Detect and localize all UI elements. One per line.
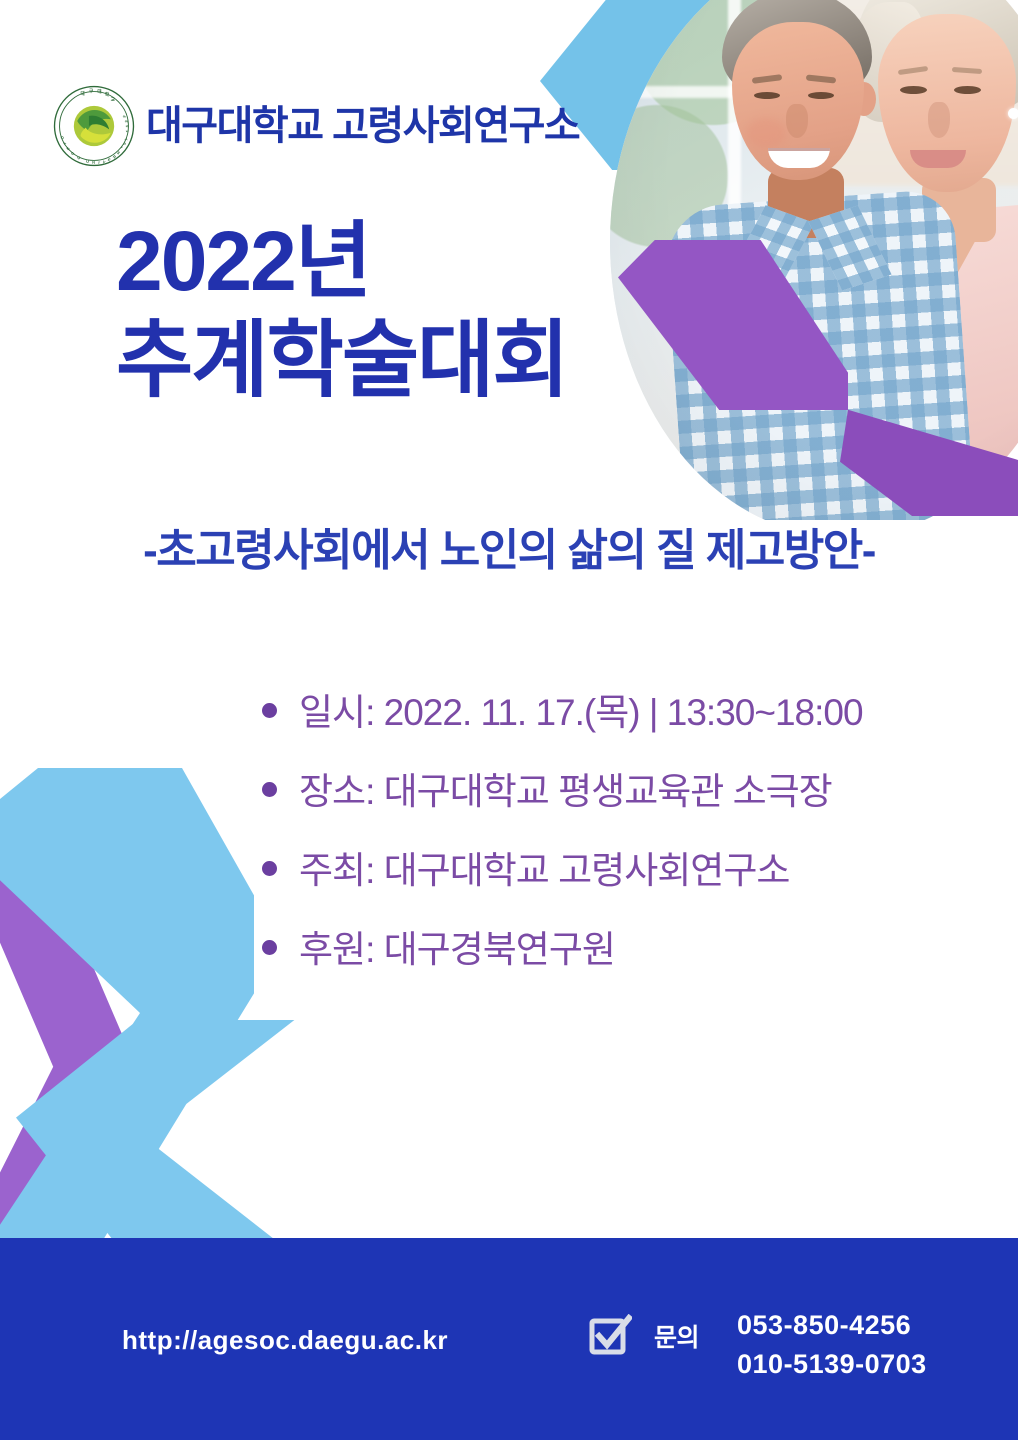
left-blue-chevron-large bbox=[0, 768, 254, 1258]
hero-graphic bbox=[540, 0, 1018, 520]
page-title: 2022년 추계학술대회 bbox=[116, 212, 568, 410]
svg-text:대: 대 bbox=[81, 90, 85, 97]
phone-number-mobile[interactable]: 010-5139-0703 bbox=[737, 1349, 927, 1380]
list-item: 주최: 대구대학교 고령사회연구소 bbox=[262, 852, 863, 889]
list-item: 일시: 2022. 11. 17.(목) | 13:30~18:00 bbox=[262, 694, 863, 731]
detail-date: 일시: 2022. 11. 17.(목) | 13:30~18:00 bbox=[299, 694, 863, 731]
contact-label: 문의 bbox=[654, 1318, 699, 1354]
list-item: 후원: 대구경북연구원 bbox=[262, 931, 863, 968]
subtitle: -초고령사회에서 노인의 삶의 질 제고방안- bbox=[0, 514, 1018, 578]
detail-sponsor: 후원: 대구경북연구원 bbox=[299, 931, 615, 968]
phone-number-list: 053-850-4256 010-5139-0703 bbox=[737, 1310, 927, 1380]
event-details-list: 일시: 2022. 11. 17.(목) | 13:30~18:00 장소: 대… bbox=[262, 694, 863, 1010]
detail-host: 주최: 대구대학교 고령사회연구소 bbox=[299, 852, 789, 889]
left-blue-chevron-lower bbox=[16, 1020, 306, 1264]
svg-text:9: 9 bbox=[125, 125, 129, 127]
institute-name: 대구대학교 고령사회연구소 bbox=[146, 106, 579, 146]
svg-text:N: N bbox=[92, 161, 95, 165]
bullet-dot-icon bbox=[262, 861, 277, 876]
phone-number-office[interactable]: 053-850-4256 bbox=[737, 1310, 927, 1341]
website-link[interactable]: http://agesoc.daegu.ac.kr bbox=[122, 1325, 448, 1356]
title-line-1: 2022년 bbox=[116, 212, 568, 311]
bullet-dot-icon bbox=[262, 703, 277, 718]
list-item: 장소: 대구대학교 평생교육관 소극장 bbox=[262, 773, 863, 810]
title-line-2: 추계학술대회 bbox=[116, 311, 568, 410]
checkbox-checked-icon bbox=[588, 1310, 632, 1358]
contact-block: 문의 053-850-4256 010-5139-0703 bbox=[588, 1310, 927, 1380]
svg-text:대: 대 bbox=[97, 88, 101, 95]
daegu-university-seal-icon: 대 구 대 학 교 D A E G U U N I V E R bbox=[52, 84, 136, 168]
brand-header: 대 구 대 학 교 D A E G U U N I V E R bbox=[52, 84, 579, 168]
bullet-dot-icon bbox=[262, 940, 277, 955]
left-purple-chevron bbox=[0, 840, 136, 1260]
detail-venue: 장소: 대구대학교 평생교육관 소극장 bbox=[299, 773, 832, 810]
poster-root: 대 구 대 학 교 D A E G U U N I V E R bbox=[0, 0, 1018, 1440]
bullet-dot-icon bbox=[262, 782, 277, 797]
